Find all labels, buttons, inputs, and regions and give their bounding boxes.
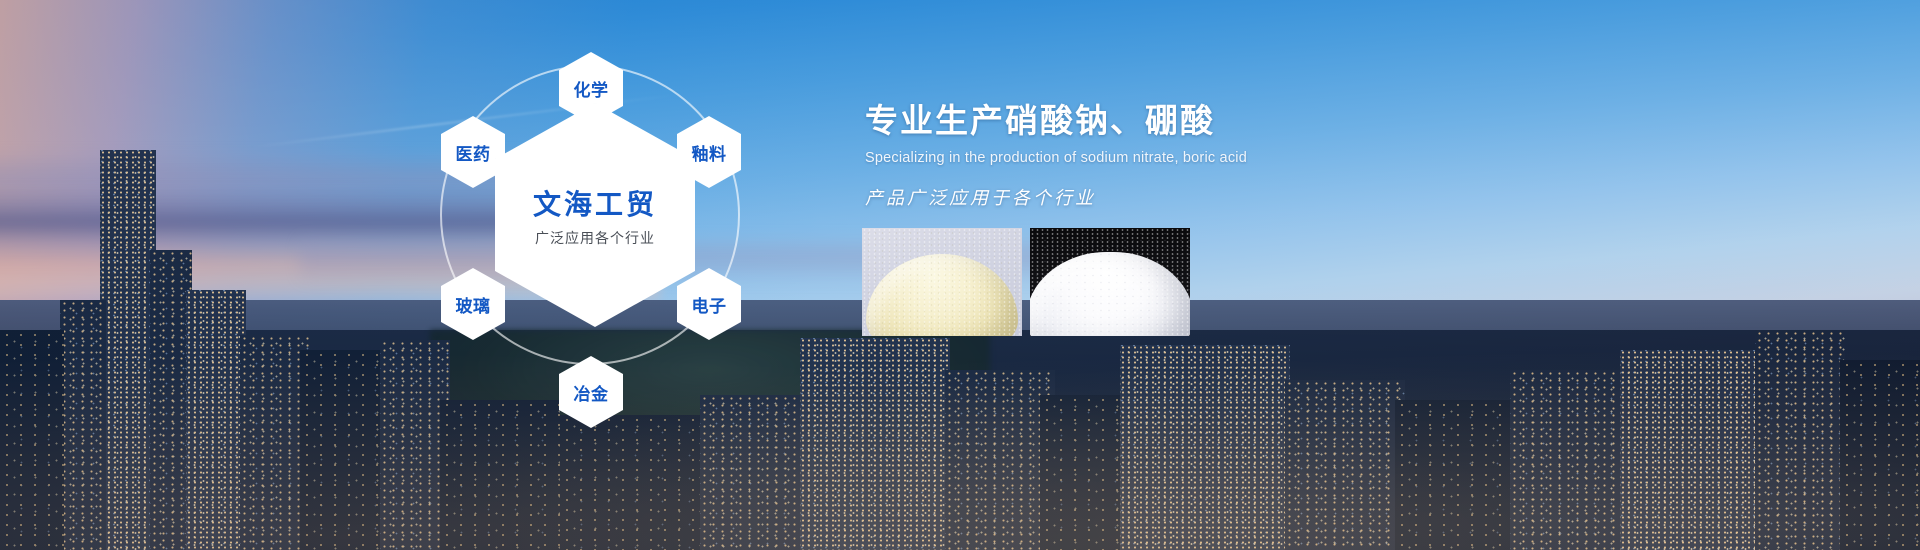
building [1510, 370, 1630, 550]
hex-node-label: 电子 [692, 292, 727, 317]
hex-node-label: 冶金 [574, 380, 609, 405]
hex-node-label: 玻璃 [456, 292, 491, 317]
building [0, 330, 64, 550]
product-photo-group [862, 228, 1190, 336]
building [1120, 345, 1290, 550]
tagline: 产品广泛应用于各个行业 [865, 184, 1565, 210]
building [800, 338, 950, 550]
powder-grain-texture [1030, 228, 1190, 336]
building [945, 370, 1055, 550]
building [100, 150, 156, 550]
building [560, 415, 700, 550]
building [1840, 360, 1920, 550]
building [1285, 380, 1405, 550]
banner-copy: 专业生产硝酸钠、硼酸 Specializing in the productio… [865, 100, 1565, 210]
hex-node-metallurgy[interactable]: 冶金 [559, 356, 623, 428]
building [1040, 395, 1130, 550]
building [1755, 330, 1845, 550]
headline: 专业生产硝酸钠、硼酸 [865, 100, 1565, 141]
company-name: 文海工贸 [533, 183, 657, 223]
hex-node-label: 釉料 [692, 140, 727, 165]
building [1395, 400, 1525, 550]
product-photo-boric-acid[interactable] [1030, 228, 1190, 336]
hex-node-label: 医药 [456, 140, 491, 165]
company-tagline: 广泛应用各个行业 [535, 228, 655, 248]
hex-node-label: 化学 [574, 76, 609, 101]
building [1620, 350, 1760, 550]
building [60, 300, 106, 550]
product-photo-sodium-nitrate[interactable] [862, 228, 1022, 336]
headline-english: Specializing in the production of sodium… [865, 150, 1565, 166]
building [300, 350, 390, 550]
hero-banner: 化学 釉料 电子 冶金 玻璃 医药 文海工贸 广泛应用各个行业 专业生产硝酸钠、… [0, 0, 1920, 550]
industry-hex-diagram: 化学 釉料 电子 冶金 玻璃 医药 文海工贸 广泛应用各个行业 [415, 30, 775, 430]
powder-grain-texture [862, 228, 1022, 336]
building [186, 290, 246, 550]
